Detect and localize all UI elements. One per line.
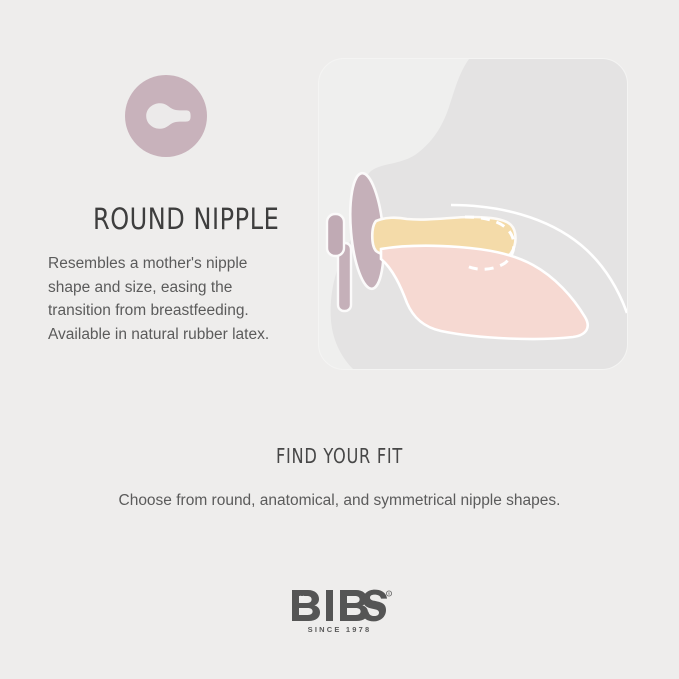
heart-icon <box>299 596 305 602</box>
find-your-fit-section: FIND YOUR FIT Choose from round, anatomi… <box>0 444 679 510</box>
brand-logo: R SINCE 1978 <box>0 588 679 637</box>
bibs-wordmark-icon: R <box>288 588 392 622</box>
find-your-fit-title: FIND YOUR FIT <box>34 444 645 468</box>
feature-title: ROUND NIPPLE <box>93 202 282 236</box>
feature-text-column: ROUND NIPPLE Resembles a mother's nipple… <box>48 75 298 346</box>
product-feature-panel: ROUND NIPPLE Resembles a mother's nipple… <box>0 0 679 679</box>
baby-head-with-pacifier-illustration <box>319 59 627 369</box>
feature-description: Resembles a mother's nipple shape and si… <box>48 252 288 346</box>
brand-tagline: SINCE 1978 <box>288 625 392 634</box>
illustration-panel <box>318 58 628 370</box>
round-nipple-silhouette-icon <box>144 102 192 130</box>
find-your-fit-subtitle: Choose from round, anatomical, and symme… <box>0 492 679 510</box>
round-nipple-badge-icon <box>125 75 207 157</box>
pacifier-handle <box>327 214 351 311</box>
